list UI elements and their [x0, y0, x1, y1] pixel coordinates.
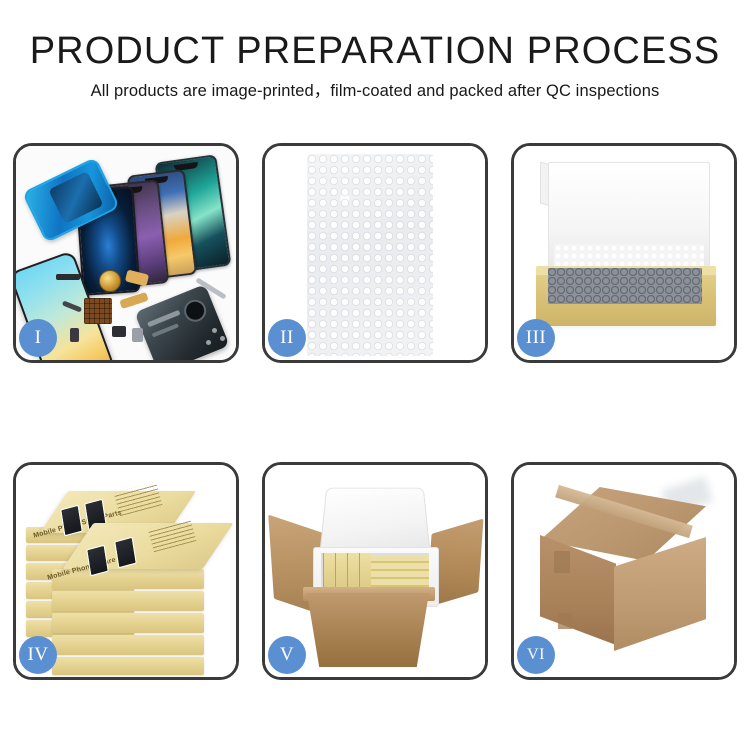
- integrated-circuit-part: [84, 298, 112, 324]
- step-badge-4: IV: [19, 636, 57, 674]
- film-inner: [49, 171, 104, 223]
- bubble-wrap-bag: [307, 154, 433, 356]
- camera-module-icon: [181, 296, 210, 325]
- process-step-panel-3: III: [511, 143, 737, 363]
- step-badge-1: I: [19, 319, 57, 357]
- earpiece-part: [112, 326, 126, 337]
- page-header: PRODUCT PREPARATION PROCESS All products…: [0, 0, 750, 100]
- screw-part: [212, 328, 217, 333]
- box-artwork-phone: [60, 505, 83, 537]
- bubble-wrapped-item: [548, 268, 702, 304]
- page-title: PRODUCT PREPARATION PROCESS: [0, 0, 750, 70]
- speaker-bar-part: [56, 274, 80, 280]
- step-badge-5: V: [268, 636, 306, 674]
- chip-part: [132, 328, 143, 342]
- step-badge-3: III: [517, 319, 555, 357]
- screw-part: [206, 340, 211, 345]
- retail-box-edge: [52, 635, 204, 655]
- box-artwork-phone: [114, 537, 137, 569]
- process-step-panel-5: V: [262, 462, 488, 680]
- screw-part: [220, 336, 225, 341]
- carton-body: [307, 593, 429, 667]
- step-badge-2: II: [268, 319, 306, 357]
- carton-tab: [558, 613, 572, 629]
- bubble-texture: [307, 154, 433, 356]
- process-step-panel-2: II: [262, 143, 488, 363]
- retail-box-edge: [52, 613, 204, 633]
- vibration-motor-part: [99, 270, 121, 292]
- retail-box-edge: [52, 591, 204, 611]
- step-badge-6: VI: [517, 636, 555, 674]
- housing-strip: [152, 323, 179, 337]
- box-artwork-phone: [86, 545, 109, 577]
- carton-tab: [554, 551, 570, 573]
- process-step-panel-1: I: [13, 143, 239, 363]
- foam-box-lid: [319, 488, 431, 555]
- process-step-panel-6: VI: [511, 462, 737, 680]
- retail-box-edge: [52, 657, 204, 675]
- button-part: [70, 328, 79, 342]
- process-step-grid: I II: [13, 143, 737, 680]
- page-subtitle: All products are image-printed，film-coat…: [0, 70, 750, 100]
- process-step-panel-4: Mobile Phone Spare Parts Mobile Phone Sp…: [13, 462, 239, 680]
